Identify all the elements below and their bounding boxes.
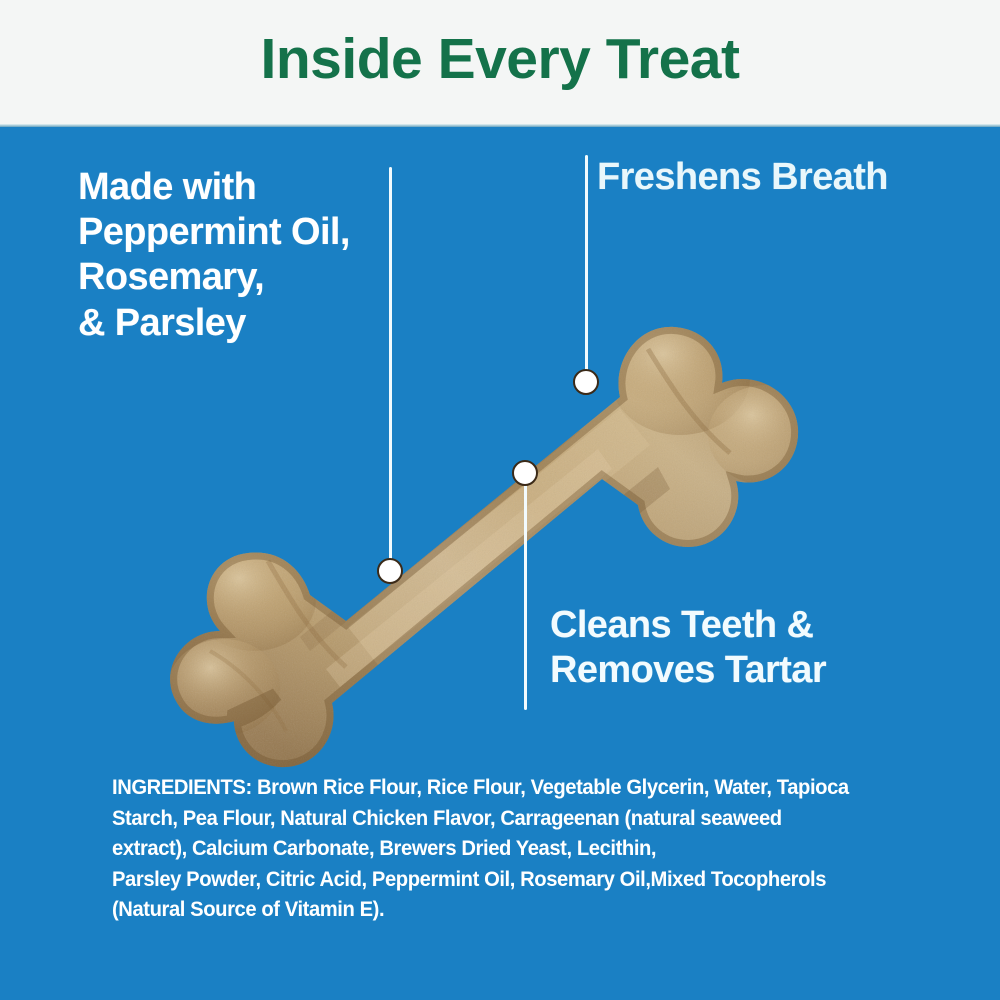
ingredients-text: INGREDIENTS: Brown Rice Flour, Rice Flou…: [112, 772, 873, 925]
marker-dot-freshens-breath: [573, 369, 599, 395]
header-band: Inside Every Treat: [0, 0, 1000, 126]
marker-dot-cleans-teeth: [512, 460, 538, 486]
callout-cleans-teeth: Cleans Teeth & Removes Tartar: [550, 603, 900, 693]
leader-line-cleans-teeth: [524, 475, 527, 710]
page-title: Inside Every Treat: [0, 26, 1000, 92]
marker-dot-made-with: [377, 558, 403, 584]
content-panel: Made with Peppermint Oil, Rosemary, & Pa…: [0, 127, 1000, 1000]
infographic-root: Inside Every Treat: [0, 0, 1000, 1000]
callout-made-with: Made with Peppermint Oil, Rosemary, & Pa…: [78, 165, 408, 346]
callout-freshens-breath: Freshens Breath: [597, 155, 937, 200]
leader-line-freshens-breath: [585, 155, 588, 383]
